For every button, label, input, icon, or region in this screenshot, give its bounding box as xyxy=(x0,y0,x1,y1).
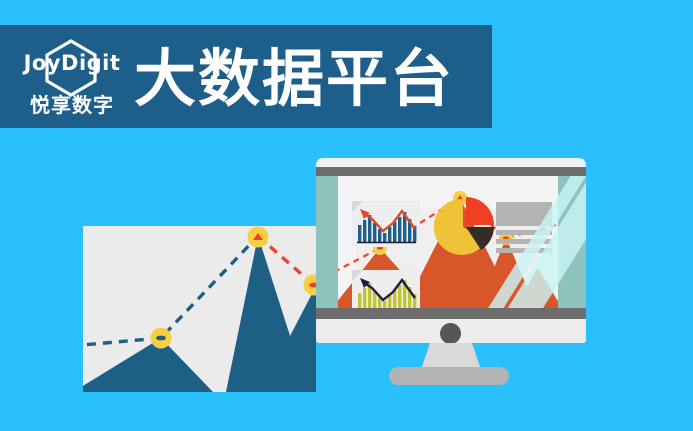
placeholder-image xyxy=(496,202,552,226)
text-placeholder-block xyxy=(496,202,552,257)
brand-logo: JoyDigit 悦享数字 xyxy=(18,37,126,117)
screen-band-right xyxy=(558,176,586,308)
monitor-top-bar xyxy=(316,167,586,176)
poster-canvas: JoyDigit 悦享数字 大数据平台 xyxy=(0,0,693,431)
header-banner: JoyDigit 悦享数字 大数据平台 xyxy=(0,25,492,128)
power-button-icon[interactable] xyxy=(440,323,461,344)
monitor-screen xyxy=(316,176,586,308)
placeholder-line xyxy=(496,239,552,244)
trend-line-rising xyxy=(83,236,258,346)
monitor-stand-neck xyxy=(421,343,481,370)
page-title: 大数据平台 xyxy=(134,43,454,115)
pie-chart xyxy=(434,196,496,258)
left-mountain-panel xyxy=(83,226,316,392)
monitor-bottom-bar xyxy=(316,308,586,319)
logo-subtitle: 悦享数字 xyxy=(18,89,126,118)
placeholder-line xyxy=(496,248,552,253)
mini-chart-card-olive xyxy=(352,270,420,308)
screen-band-left xyxy=(316,176,338,308)
logo-wordmark: JoyDigit xyxy=(18,51,126,75)
monitor-display xyxy=(316,158,586,343)
page-fold-corner xyxy=(352,201,363,212)
placeholder-line xyxy=(496,230,552,235)
page-fold-corner xyxy=(352,270,363,281)
data-point-marker-inner xyxy=(156,336,166,341)
pie-slice-red xyxy=(466,197,494,225)
monitor-stand-base xyxy=(389,367,509,385)
mini-chart-card-blue xyxy=(352,201,420,247)
